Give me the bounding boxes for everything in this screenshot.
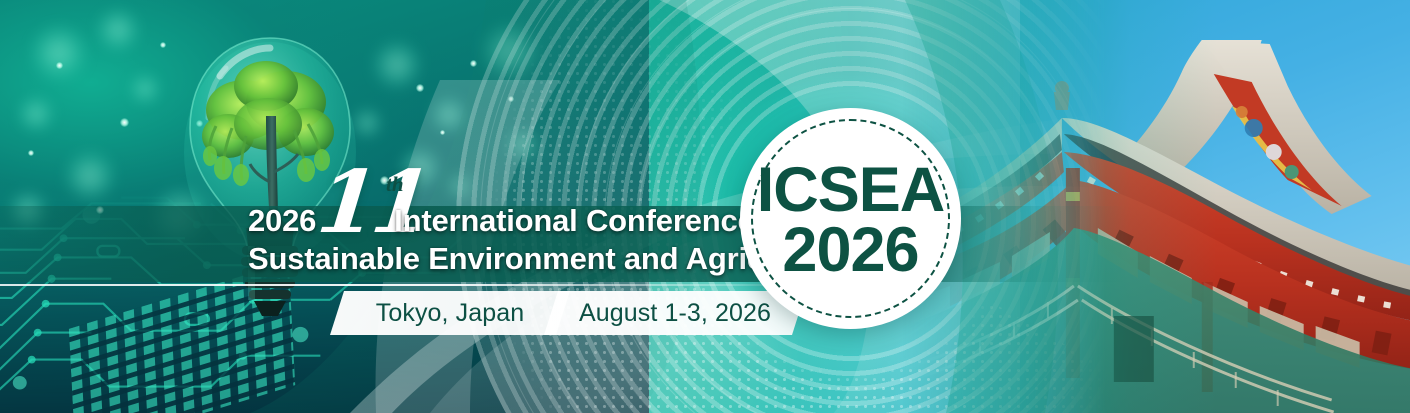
edition-suffix: th [386,174,404,195]
title-band-underline [0,284,818,286]
event-location: Tokyo, Japan [330,291,570,335]
icsea-logo[interactable]: ICSEA 2026 [740,108,961,329]
title-year: 2026 [248,202,316,240]
conference-banner: 11 th 2026International Conference on Su… [0,0,1410,413]
event-dates: August 1-3, 2026 [544,291,806,335]
logo-dashed-ring [751,119,950,318]
